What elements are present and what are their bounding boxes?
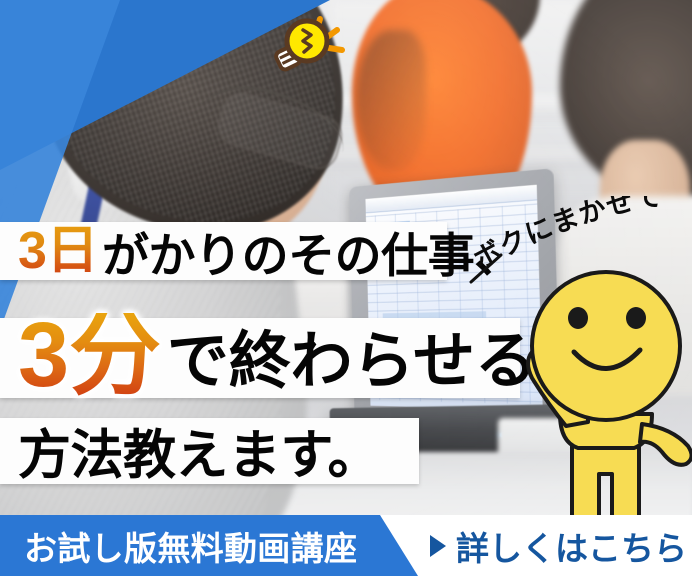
mascot-character bbox=[502, 246, 692, 558]
headline-line-1-rest: がかりのその仕事、 bbox=[102, 217, 521, 286]
center-person-shading bbox=[356, 30, 426, 170]
cta-bar[interactable]: お試し版無料動画講座 詳しくはこちら bbox=[0, 515, 692, 576]
promo-banner: 3日 がかりのその仕事、 3分 で終わらせる 方法教えます。 ボクにまかせて bbox=[0, 0, 692, 576]
headline-line-3: 方法教えます。 bbox=[18, 418, 380, 484]
cta-link[interactable]: 詳しくはこちら bbox=[430, 515, 687, 576]
headline-line-2-rest: で終わらせる bbox=[167, 329, 537, 398]
speech-pointer-line bbox=[469, 252, 505, 286]
headline-line-1: 3日 がかりのその仕事、 bbox=[18, 222, 521, 280]
mascot-eye-right bbox=[626, 307, 646, 329]
mascot-eye-left bbox=[568, 307, 588, 329]
lightbulb-icon bbox=[258, 8, 346, 80]
headline-highlight-3days: 3日 bbox=[18, 225, 102, 277]
play-triangle-icon bbox=[430, 535, 446, 557]
headline-highlight-3minutes: 3分 bbox=[18, 313, 167, 398]
headline-line-2: 3分 で終わらせる bbox=[18, 300, 537, 398]
cta-link-label: 詳しくはこちら bbox=[456, 522, 687, 570]
cta-badge-label: お試し版無料動画講座 bbox=[24, 515, 357, 576]
